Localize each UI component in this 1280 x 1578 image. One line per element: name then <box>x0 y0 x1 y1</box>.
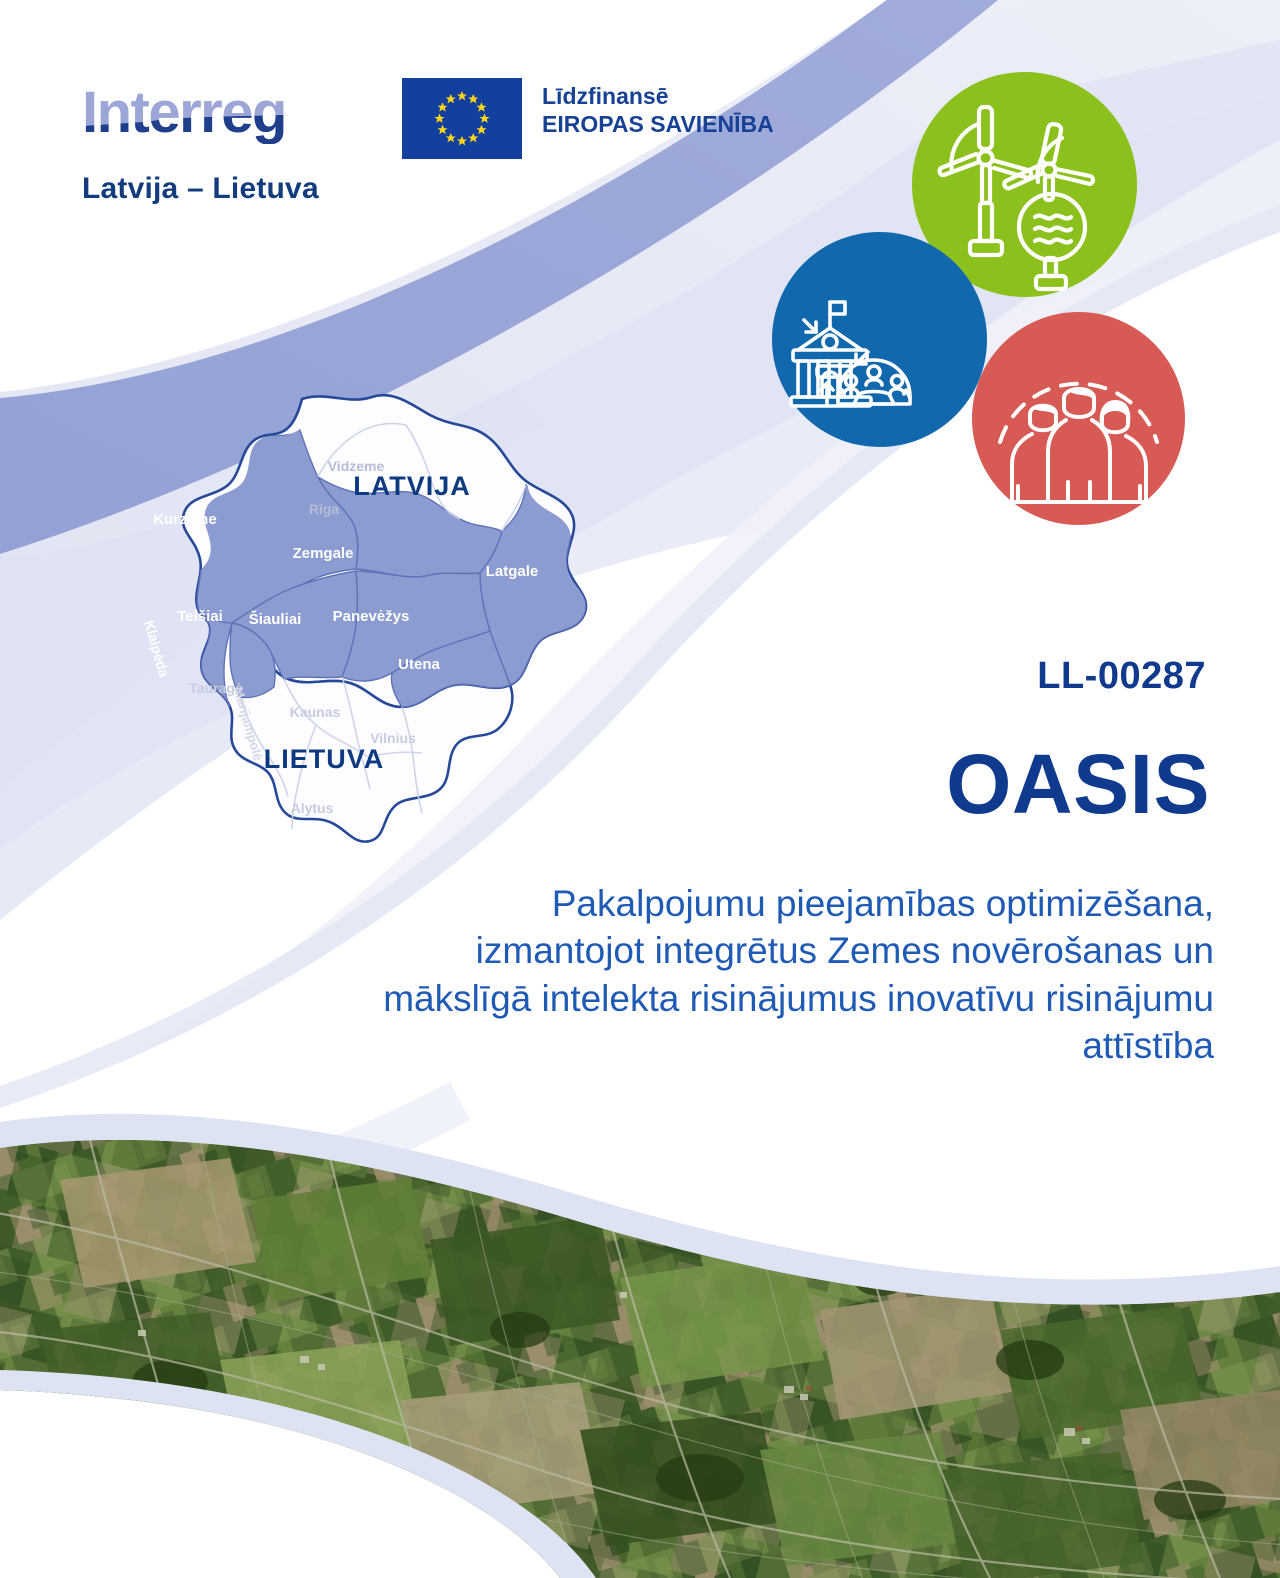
map-label-panevezys: Panevėžys <box>333 608 410 625</box>
people-group-icon <box>972 312 1185 525</box>
project-description: Pakalpojumu pieejamības optimizēšana, iz… <box>374 880 1214 1069</box>
map-label-utena: Utena <box>398 656 440 673</box>
eu-cofunding-emblem: Līdzfinansē EIROPAS SAVIENĪBA <box>402 78 774 159</box>
map-label-kaunas: Kaunas <box>290 704 341 720</box>
interreg-logo: Interreg Interreg Latvija – Lietuva <box>82 82 362 206</box>
map-label-klaipeda: Klaipėda <box>141 618 173 679</box>
project-code: LL-00287 <box>1037 655 1206 698</box>
programme-name: Latvija – Lietuva <box>82 172 362 206</box>
map-label-kurzeme: Kurzeme <box>153 511 216 528</box>
map-label-lietuva: LIETUVA <box>264 744 385 774</box>
map-label-siauliai: Šiauliai <box>249 610 302 628</box>
poster-canvas: Interreg Interreg Latvija – Lietuva <box>0 0 1280 1578</box>
map-label-latgale: Latgale <box>486 563 539 580</box>
latvia-lithuania-region-map: Vidzeme Rīga Kurzeme Zemgale Latgale Tel… <box>112 385 594 850</box>
satellite-farmland-photo <box>0 1030 1280 1578</box>
map-shapes: Vidzeme Rīga Kurzeme Zemgale Latgale Tel… <box>141 395 586 841</box>
map-label-riga: Rīga <box>309 501 340 517</box>
map-label-zemgale: Zemgale <box>293 545 354 562</box>
map-label-telsiai: Telšiai <box>177 608 223 625</box>
eu-cofunding-line1: Līdzfinansē <box>542 82 774 110</box>
government-building-icon <box>772 232 987 447</box>
project-acronym: OASIS <box>946 742 1210 826</box>
map-label-latvija: LATVIJA <box>353 471 471 501</box>
eu-flag-icon <box>402 78 522 159</box>
eu-cofunding-line2: EIROPAS SAVIENĪBA <box>542 110 774 138</box>
map-label-alytus: Alytus <box>291 800 334 816</box>
interreg-wordmark-icon: Interreg Interreg <box>82 82 362 144</box>
